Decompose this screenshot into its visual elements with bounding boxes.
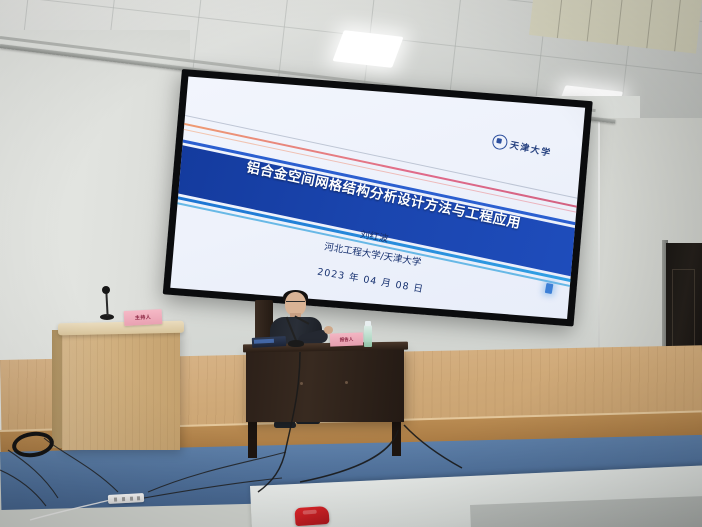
power-strip[interactable] — [108, 493, 144, 504]
floor-cables — [0, 0, 702, 527]
red-object — [294, 506, 329, 526]
lecture-hall-photo: 天津大学 铝合金空间网格结构分析设计方法与工程应用 刘红波 河北工程大学/天津大… — [0, 0, 702, 527]
